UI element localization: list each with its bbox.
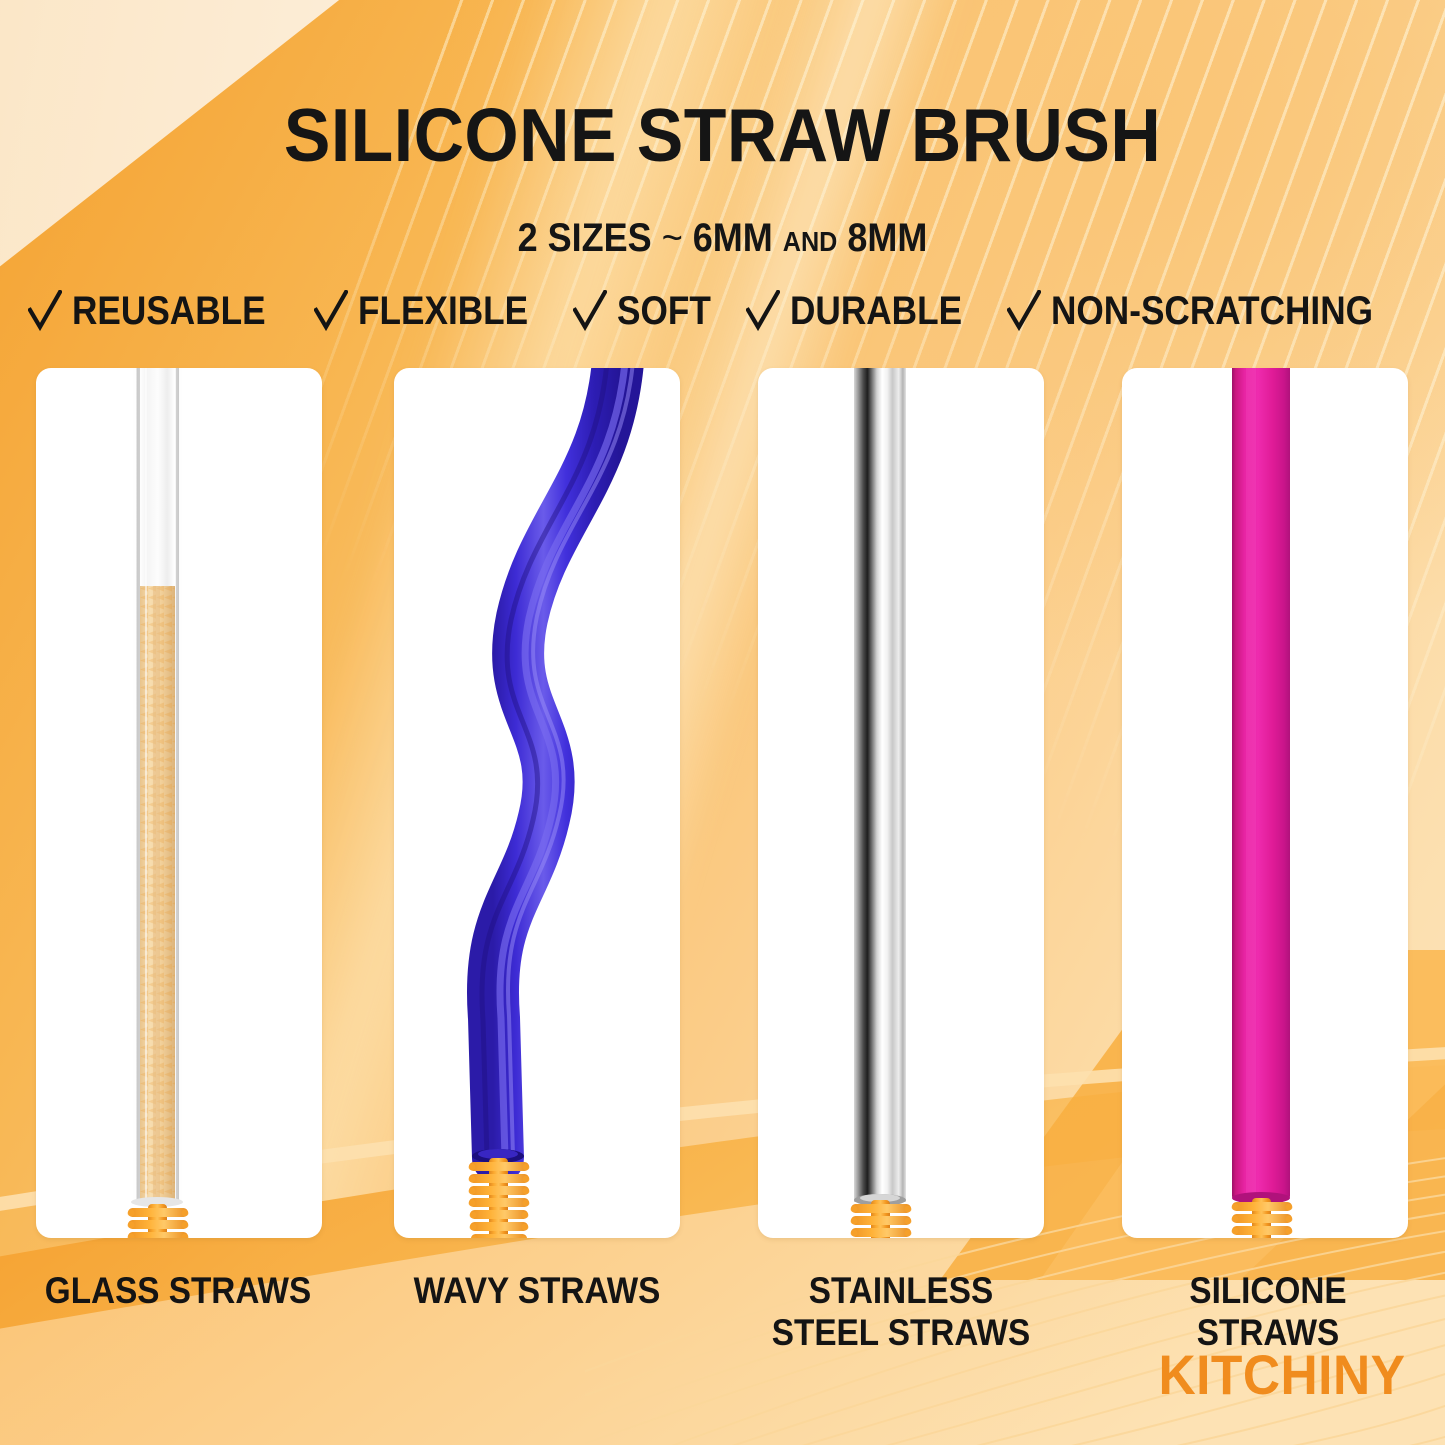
checkmark-icon [28, 290, 62, 332]
subtitle-tilde: ~ [662, 216, 683, 260]
glass-straw-illustration [36, 368, 322, 1238]
feature-item-soft: SOFT [573, 290, 724, 332]
card-image-silicone-straw [1122, 368, 1408, 1238]
card-image-glass-straw [36, 368, 322, 1238]
card-label-stainless-steel-straws: STAINLESS STEEL STRAWS [758, 1270, 1044, 1354]
brush-head [128, 1204, 189, 1238]
feature-list: REUSABLE FLEXIBLE SOFT DURABLE NON-SCRAT… [0, 290, 1445, 332]
brush-head [1232, 1198, 1293, 1238]
subtitle-conjunction: AND [783, 226, 838, 257]
subtitle-size-large: 8MM [847, 216, 927, 260]
feature-label: SOFT [617, 291, 711, 331]
checkmark-icon [573, 290, 607, 332]
brand-logo: KITCHINY [1158, 1347, 1405, 1403]
brush-head [851, 1200, 912, 1238]
feature-label: REUSABLE [72, 291, 266, 331]
feature-item-reusable: REUSABLE [28, 290, 292, 332]
feature-label: FLEXIBLE [358, 291, 528, 331]
feature-label: NON-SCRATCHING [1051, 291, 1373, 331]
steel-straw-illustration [758, 368, 1044, 1238]
checkmark-icon [746, 290, 780, 332]
product-card-stainless-steel-straws[interactable] [758, 368, 1044, 1238]
brush-head [469, 1158, 530, 1238]
page-title: SILICONE STRAW BRUSH [51, 98, 1395, 173]
card-label-wavy-straws: WAVY STRAWS [398, 1270, 677, 1312]
checkmark-icon [1007, 290, 1041, 332]
checkmark-icon [314, 290, 348, 332]
card-label-silicone-straws: SILICONE STRAWS [1124, 1270, 1412, 1354]
subtitle-prefix: 2 SIZES [518, 216, 652, 260]
card-image-steel-straw [758, 368, 1044, 1238]
subtitle: 2 SIZES ~ 6MM AND 8MM [72, 218, 1373, 258]
product-card-silicone-straws[interactable] [1122, 368, 1408, 1238]
feature-item-non-scratching: NON-SCRATCHING [1007, 290, 1417, 332]
feature-item-durable: DURABLE [746, 290, 986, 332]
feature-item-flexible: FLEXIBLE [314, 290, 551, 332]
product-card-wavy-straws[interactable] [394, 368, 680, 1238]
subtitle-size-small: 6MM [693, 216, 773, 260]
product-card-glass-straws[interactable] [36, 368, 322, 1238]
card-label-glass-straws: GLASS STRAWS [34, 1270, 322, 1312]
infographic-canvas: SILICONE STRAW BRUSH 2 SIZES ~ 6MM AND 8… [0, 0, 1445, 1445]
feature-label: DURABLE [790, 291, 962, 331]
silicone-straw-illustration [1122, 368, 1408, 1238]
wavy-straw-illustration [394, 368, 680, 1238]
card-image-wavy-straw [394, 368, 680, 1238]
